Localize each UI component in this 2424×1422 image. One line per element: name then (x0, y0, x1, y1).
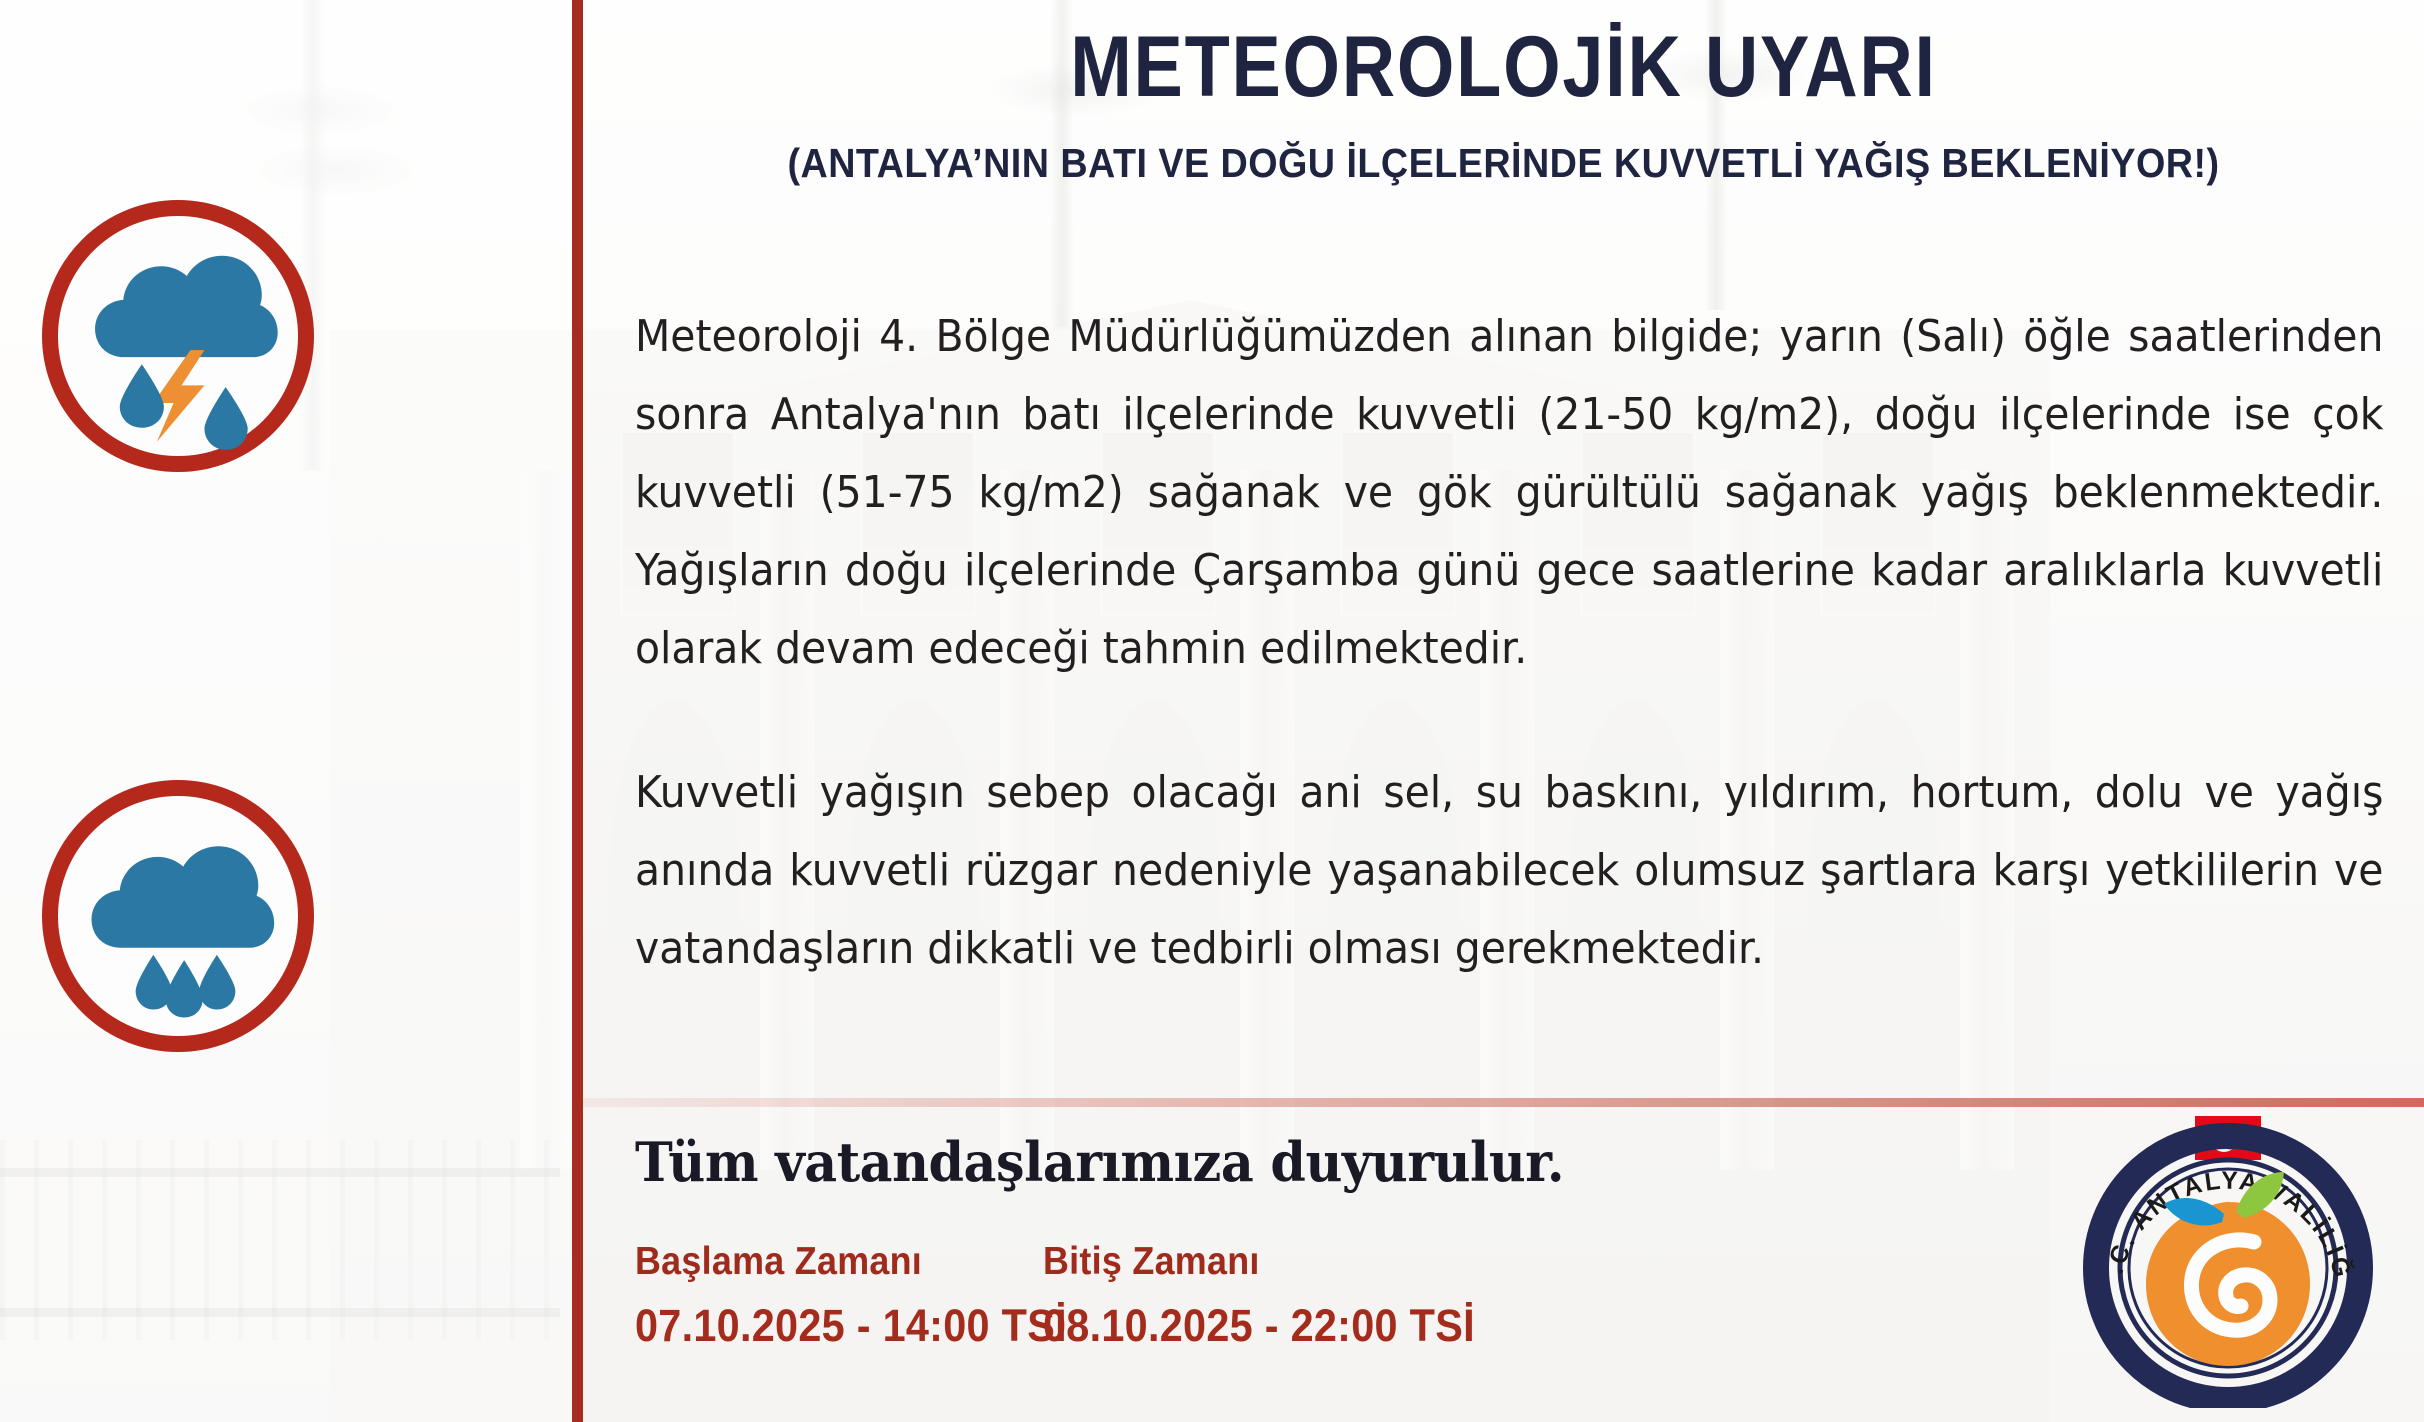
start-time-value: 07.10.2025 - 14:00 TSİ (635, 1300, 1067, 1352)
vertical-red-divider (572, 0, 583, 1422)
poster-footer: Tüm vatandaşlarımıza duyurulur. Başlama … (583, 0, 2424, 1422)
emblem-blue-leaf (2164, 1198, 2224, 1225)
announcement-text: Tüm vatandaşlarımıza duyurulur. (635, 1130, 1564, 1194)
end-time-value: 08.10.2025 - 22:00 TSİ (1043, 1300, 1475, 1352)
thunderstorm-cloud-shape (95, 256, 278, 357)
heavy-rain-icon (42, 780, 314, 1052)
rain-drop-right (204, 387, 247, 450)
rain-drop-2 (166, 960, 203, 1017)
lightning-bolt-shape (153, 350, 204, 442)
end-time-block: Bitiş Zamanı 08.10.2025 - 22:00 TSİ (1043, 1240, 1512, 1352)
meteorological-warning-poster: METEOROLOJİK UYARI (ANTALYA’NIN BATI VE … (0, 0, 2424, 1422)
thunderstorm-icon (42, 200, 314, 472)
emblem-orange-fruit (2146, 1202, 2310, 1366)
antalya-governorship-emblem: T.C. ANTALYA VALİLİĞİ (2078, 1108, 2378, 1408)
rain-cloud-shape (92, 846, 275, 947)
rain-drop-3 (199, 955, 235, 1010)
poster-content: METEOROLOJİK UYARI (ANTALYA’NIN BATI VE … (583, 0, 2424, 1422)
weather-icon-column (0, 0, 572, 1422)
start-time-block: Başlama Zamanı 07.10.2025 - 14:00 TSİ (635, 1240, 1104, 1352)
start-time-label: Başlama Zamanı (635, 1240, 1067, 1284)
end-time-label: Bitiş Zamanı (1043, 1240, 1475, 1284)
rain-drop-left (120, 364, 164, 428)
